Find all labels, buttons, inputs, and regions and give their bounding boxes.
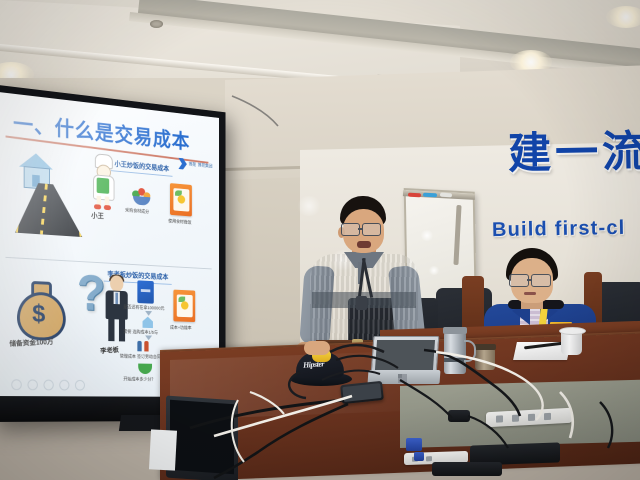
mini-vegetables-icon bbox=[138, 364, 152, 375]
label-buy-ingredients: 采购食材成分 bbox=[125, 208, 149, 216]
chef-icon bbox=[87, 153, 119, 211]
attendee-mouth bbox=[524, 292, 536, 295]
label-boss-li: 李老板 bbox=[100, 345, 119, 356]
marker-white-icon bbox=[440, 193, 452, 198]
power-adapter-3 bbox=[432, 462, 502, 476]
slide-logo: 博苑 博苑集团 bbox=[178, 158, 212, 172]
slide-row-divider bbox=[5, 257, 211, 270]
presenter-hand-on-remote bbox=[304, 341, 330, 355]
downlight-5-icon bbox=[606, 6, 640, 28]
blue-card-icon bbox=[137, 280, 153, 303]
label-search-cost: 需要 选购成本1/5与 bbox=[123, 329, 158, 336]
badge-icon bbox=[356, 296, 367, 310]
money-bag-icon: $ bbox=[17, 280, 60, 335]
wall-sign-chinese: 建一流 bbox=[507, 117, 640, 181]
label-reserve-funds: 储备资金100万 bbox=[9, 337, 54, 349]
display-stand bbox=[119, 415, 165, 431]
fried-rice-card-icon-2 bbox=[173, 290, 195, 322]
volume-button-icon[interactable] bbox=[59, 380, 69, 391]
whiteboard-glare-2 bbox=[428, 266, 440, 275]
thermos-mug bbox=[444, 332, 466, 374]
house-icon bbox=[19, 152, 53, 188]
display-touch-controls[interactable] bbox=[11, 379, 85, 390]
paper-sheet bbox=[149, 429, 177, 470]
slide-logo-text-2: 博苑集团 bbox=[198, 163, 213, 170]
home-button-icon[interactable] bbox=[75, 380, 85, 391]
tea-jar bbox=[475, 348, 495, 370]
fried-rice-card-icon bbox=[170, 183, 192, 216]
mini-people-icon bbox=[137, 341, 148, 352]
downlight-1-icon bbox=[150, 20, 163, 28]
eyeglasses-icon-2 bbox=[509, 274, 555, 285]
blue-connector-1 bbox=[406, 438, 422, 451]
presentation-room-photo: 建一流 Build first-cl 一、什么是交易成本 博苑 博苑集团 小王炒… bbox=[0, 0, 640, 480]
desktop-monitor bbox=[166, 395, 238, 480]
source-button-icon[interactable] bbox=[27, 379, 37, 390]
label-start-cost: 开始成本多少分？ bbox=[123, 377, 155, 383]
road-icon bbox=[15, 181, 82, 237]
paper-cup bbox=[561, 330, 582, 355]
label-use-ingredients: 使用食材做饭 bbox=[168, 218, 191, 225]
row-heading-1: 小王炒饭的交易成本 bbox=[115, 159, 170, 174]
power-adapter-2 bbox=[448, 410, 470, 422]
marker-blue-icon bbox=[423, 193, 437, 198]
mini-house-icon bbox=[143, 316, 153, 328]
menu-button-icon[interactable] bbox=[43, 380, 53, 391]
wall-sign-english: Build first-cl bbox=[492, 217, 626, 242]
vegetables-icon bbox=[130, 187, 153, 206]
eyeglasses-icon bbox=[341, 223, 386, 234]
slide-logo-text-1: 博苑 bbox=[189, 162, 196, 168]
laptop[interactable] bbox=[368, 336, 440, 384]
arrow-down-icon-2 bbox=[145, 335, 152, 340]
arrow-down-icon-1 bbox=[145, 311, 152, 316]
label-contract-cost: 管理成本 签订劳动合同 bbox=[120, 354, 161, 360]
label-xiaowang: 小王 bbox=[91, 211, 104, 222]
brand-mark-icon bbox=[178, 158, 186, 170]
blue-connector-2 bbox=[414, 452, 424, 461]
power-button-icon[interactable] bbox=[11, 379, 22, 390]
label-total-cost: 成本+功能率 bbox=[170, 325, 192, 331]
presenter-mouth bbox=[357, 241, 371, 248]
